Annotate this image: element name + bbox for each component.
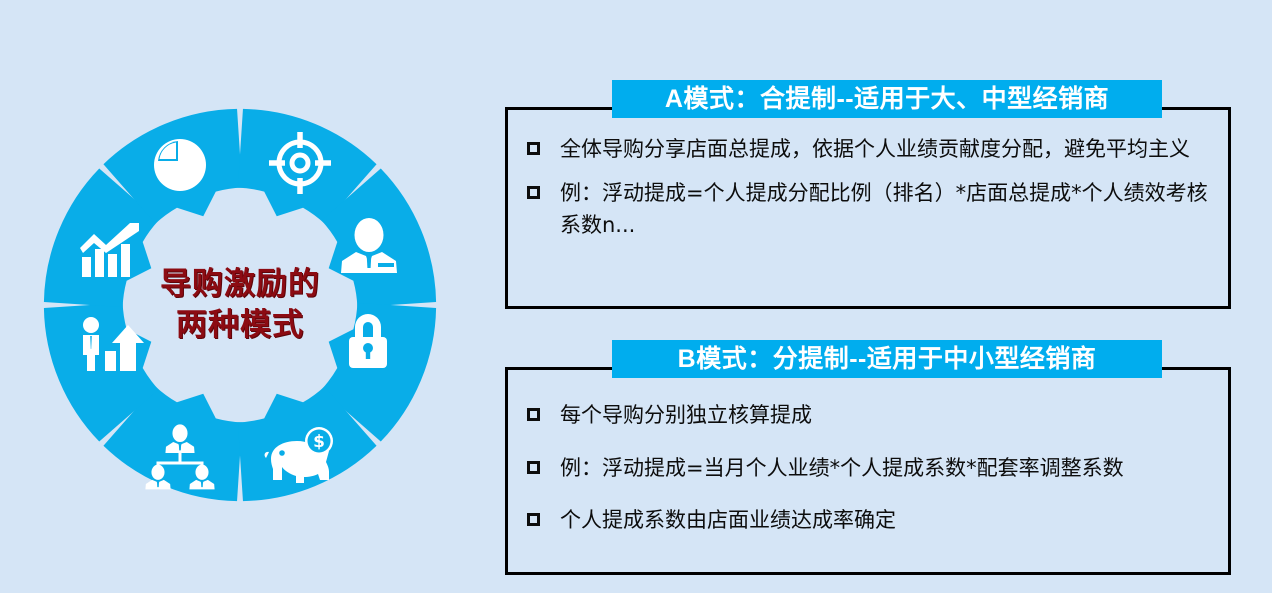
panel-mode-b: B模式：分提制--适用于中小型经销商 每个导购分别独立核算提成 例：浮动提成=当… xyxy=(505,367,1231,575)
wheel-segments xyxy=(31,96,448,513)
panel-a-body: 全体导购分享店面总提成，依据个人业绩贡献度分配，避免平均主义 例：浮动提成=个人… xyxy=(527,133,1217,253)
panel-a-bullet-1: 全体导购分享店面总提成，依据个人业绩贡献度分配，避免平均主义 xyxy=(560,133,1190,166)
square-bullet-icon xyxy=(527,186,540,199)
panel-b-bullet-3: 个人提成系数由店面业绩达成率确定 xyxy=(560,504,896,537)
slide-canvas: $ xyxy=(0,0,1272,593)
square-bullet-icon xyxy=(527,461,540,474)
panel-a-header[interactable]: A模式：合提制--适用于大、中型经销商 xyxy=(612,80,1162,118)
square-bullet-icon xyxy=(527,513,540,526)
square-bullet-icon xyxy=(527,142,540,155)
panel-b-bullet-1: 每个导购分别独立核算提成 xyxy=(560,399,812,432)
svg-text:$: $ xyxy=(313,432,325,452)
list-item: 每个导购分别独立核算提成 xyxy=(527,399,1217,432)
list-item: 例：浮动提成=当月个人业绩*个人提成系数*配套率调整系数 xyxy=(527,452,1217,485)
panel-b-header[interactable]: B模式：分提制--适用于中小型经销商 xyxy=(612,340,1162,378)
panel-mode-a: A模式：合提制--适用于大、中型经销商 全体导购分享店面总提成，依据个人业绩贡献… xyxy=(505,107,1231,309)
panel-b-bullet-2: 例：浮动提成=当月个人业绩*个人提成系数*配套率调整系数 xyxy=(560,452,1124,485)
panel-a-bullet-2: 例：浮动提成=个人提成分配比例（排名）*店面总提成*个人绩效考核系数n... xyxy=(560,177,1217,242)
list-item: 全体导购分享店面总提成，依据个人业绩贡献度分配，避免平均主义 xyxy=(527,133,1217,166)
pie-chart-icon xyxy=(154,139,206,191)
circular-wheel-diagram: $ xyxy=(28,93,452,517)
square-bullet-icon xyxy=(527,408,540,421)
list-item: 例：浮动提成=个人提成分配比例（排名）*店面总提成*个人绩效考核系数n... xyxy=(527,177,1217,242)
list-item: 个人提成系数由店面业绩达成率确定 xyxy=(527,504,1217,537)
panel-b-body: 每个导购分别独立核算提成 例：浮动提成=当月个人业绩*个人提成系数*配套率调整系… xyxy=(527,399,1217,557)
